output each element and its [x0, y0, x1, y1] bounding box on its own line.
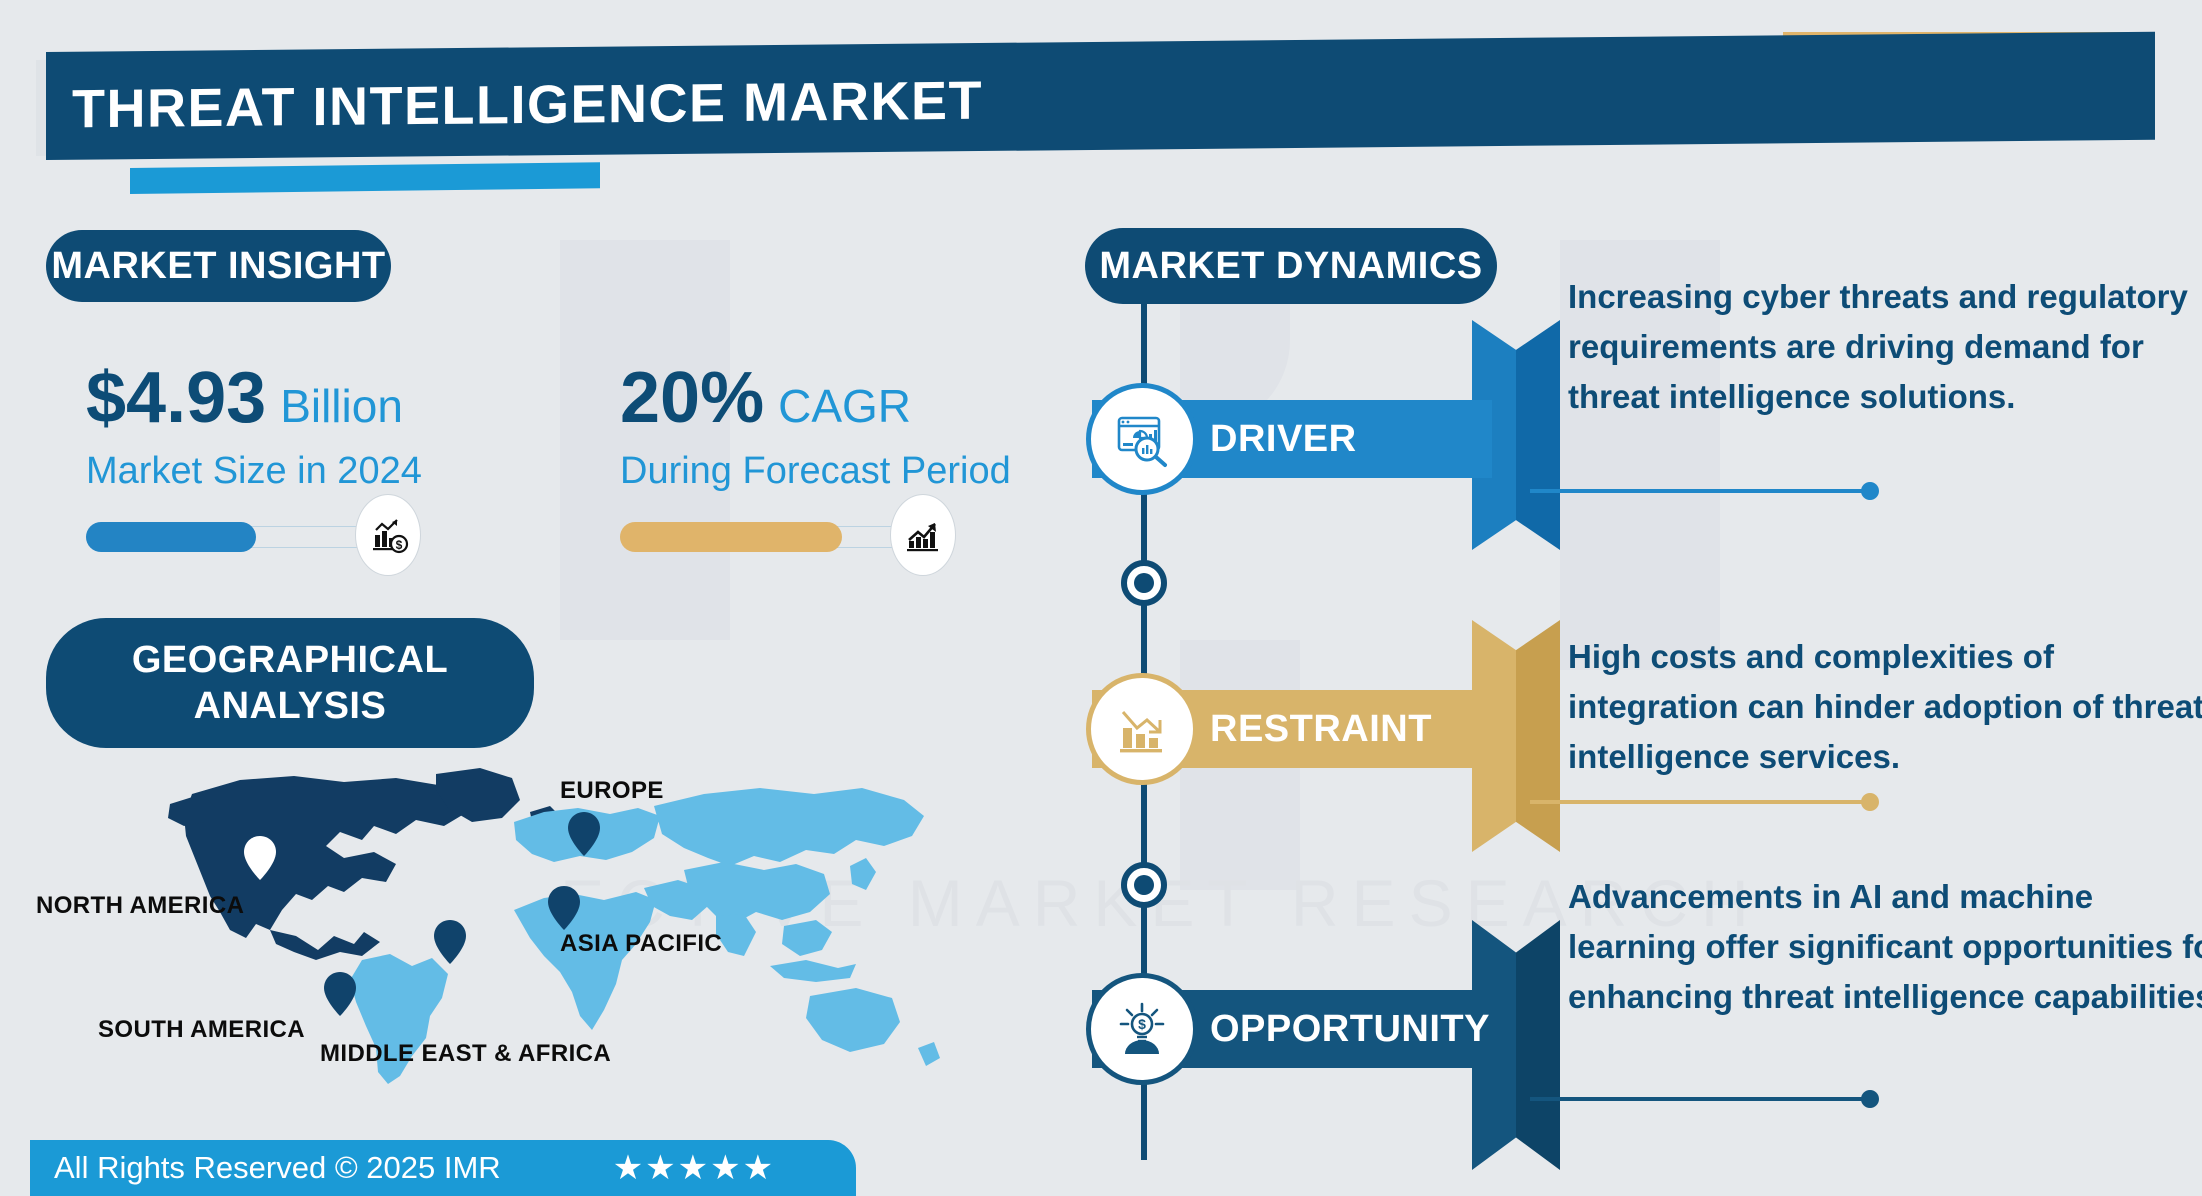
market-dynamics-pill-label: MARKET DYNAMICS: [1099, 245, 1482, 288]
lightbulb-dollar-icon: $: [1086, 973, 1198, 1085]
stat-market-size-value: $4.93: [86, 362, 266, 434]
map-region-central-america: [270, 930, 380, 960]
opportunity-connector-dot: [1861, 1090, 1879, 1108]
market-insight-pill: MARKET INSIGHT: [46, 230, 391, 302]
dynamics-item-restraint[interactable]: RESTRAINT: [1092, 690, 1492, 768]
map-region-africa: [514, 892, 656, 1030]
stat-market-size-unit: Billion: [280, 383, 403, 429]
geographical-pill-line2: ANALYSIS: [194, 683, 387, 729]
market-size-progress-bar: [86, 522, 386, 552]
page-title: THREAT INTELLIGENCE MARKET: [72, 70, 983, 141]
map-region-southeast-asia: [782, 920, 832, 956]
map-pin-south-america: [324, 972, 356, 1016]
market-insight-pill-label: MARKET INSIGHT: [51, 245, 385, 288]
map-region-japan: [850, 858, 876, 890]
footer-copyright: All Rights Reserved © 2025 IMR: [54, 1150, 501, 1186]
stat-cagr-sublabel: During Forecast Period: [620, 452, 1011, 490]
growth-chart-arrow-icon: [890, 494, 956, 576]
declining-chart-icon: [1086, 673, 1198, 785]
market-size-progress-fill: [86, 522, 256, 552]
geographical-analysis-pill: GEOGRAPHICAL ANALYSIS: [46, 618, 534, 748]
stat-cagr: 20%CAGR During Forecast Period: [620, 362, 1011, 490]
dynamics-label-restraint: RESTRAINT: [1210, 708, 1432, 751]
stat-cagr-headline: 20%CAGR: [620, 362, 1011, 434]
dynamics-text-driver: Increasing cyber threats and regulatory …: [1568, 272, 2202, 422]
map-label-asia-pacific: ASIA PACIFIC: [560, 930, 722, 958]
map-label-south-america: SOUTH AMERICA: [98, 1016, 305, 1044]
restraint-connector-dot: [1861, 793, 1879, 811]
map-pin-middle-east-africa: [434, 920, 466, 964]
footer-bar: All Rights Reserved © 2025 IMR ★★★★★: [30, 1140, 856, 1196]
map-label-north-america: NORTH AMERICA: [36, 892, 244, 920]
geographical-pill-line1: GEOGRAPHICAL: [132, 637, 448, 683]
dynamics-text-restraint: High costs and complexities of integrati…: [1568, 632, 2202, 782]
infographic-page: ECTIVE MARKET RESEARCH THREAT INTELLIGEN…: [0, 0, 2202, 1196]
map-region-indonesia: [770, 960, 856, 982]
dynamics-label-opportunity: OPPORTUNITY: [1210, 1008, 1490, 1051]
opportunity-connector: [1530, 1097, 1870, 1101]
footer-star-rating: ★★★★★: [613, 1148, 775, 1188]
market-dynamics-pill: MARKET DYNAMICS: [1085, 228, 1497, 304]
stat-cagr-unit: CAGR: [778, 383, 911, 429]
cagr-progress-bar: [620, 522, 920, 552]
map-label-middle-east-africa: MIDDLE EAST & AFRICA: [320, 1040, 611, 1068]
dynamics-text-opportunity: Advancements in AI and machine learning …: [1568, 872, 2202, 1022]
svg-text:$: $: [1138, 1016, 1146, 1032]
map-region-australia: [806, 988, 900, 1052]
driver-connector-dot: [1861, 482, 1879, 500]
stat-cagr-value: 20%: [620, 362, 764, 434]
analytics-search-icon: [1086, 383, 1198, 495]
map-region-russia-asia: [654, 788, 924, 866]
map-label-europe: EUROPE: [560, 777, 664, 805]
dynamics-label-driver: DRIVER: [1210, 418, 1357, 461]
stat-market-size: $4.93Billion Market Size in 2024: [86, 362, 422, 490]
cagr-progress-fill: [620, 522, 842, 552]
stat-market-size-headline: $4.93Billion: [86, 362, 422, 434]
svg-text:$: $: [396, 538, 403, 552]
driver-connector: [1530, 489, 1870, 493]
header-underline: [130, 162, 600, 194]
bar-chart-dollar-icon: $: [355, 494, 421, 576]
stat-market-size-sublabel: Market Size in 2024: [86, 452, 422, 490]
timeline-node-2: [1121, 862, 1167, 908]
map-region-china-india: [684, 862, 830, 924]
map-region-new-zealand: [918, 1042, 940, 1066]
dynamics-item-opportunity[interactable]: $ OPPORTUNITY: [1092, 990, 1492, 1068]
dynamics-item-driver[interactable]: DRIVER: [1092, 400, 1492, 478]
restraint-connector: [1530, 800, 1870, 804]
timeline-node-1: [1121, 560, 1167, 606]
